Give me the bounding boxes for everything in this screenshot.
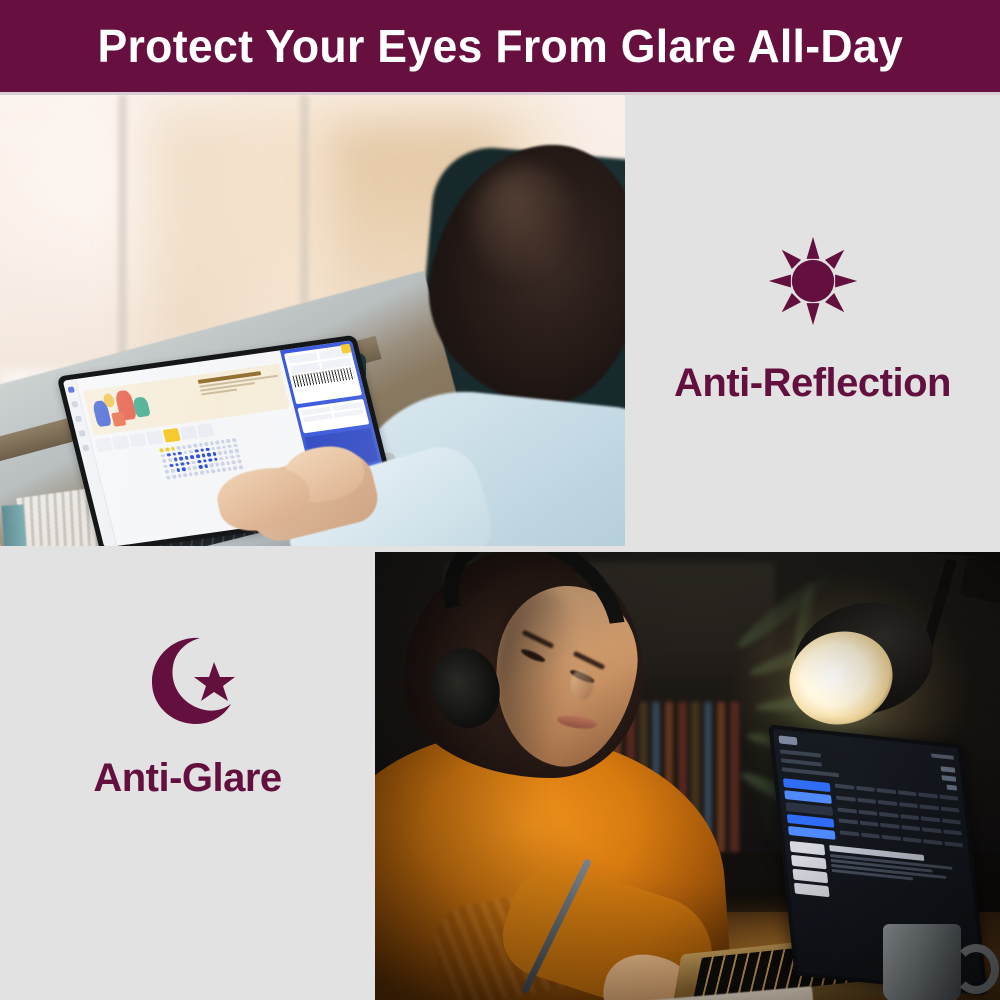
showtime-chip — [112, 435, 130, 450]
sidebar-icon-settings — [82, 445, 89, 452]
hero-text-block — [193, 364, 291, 421]
sidebar-icon-tickets — [75, 415, 82, 422]
moon-star-icon — [138, 632, 238, 726]
dashboard-list — [790, 841, 970, 912]
showtime-chip — [180, 426, 198, 441]
sun-icon — [767, 235, 859, 327]
showtime-chip-selected — [163, 428, 181, 443]
hair-highlight — [470, 165, 580, 285]
feature-anti-reflection: Anti-Reflection — [625, 95, 1000, 546]
showtime-chip — [129, 433, 147, 448]
dashboard-chart-area — [783, 778, 964, 853]
sidebar-icon-home — [67, 386, 74, 393]
showtime-chip — [95, 437, 113, 452]
daylight-photo — [0, 95, 625, 546]
header-banner: Protect Your Eyes From Glare All-Day — [0, 0, 1000, 92]
coffee-mug — [883, 924, 961, 1000]
coffee-mug-handle — [953, 944, 999, 994]
night-photo — [375, 552, 1000, 1000]
ticket-card — [284, 345, 362, 405]
product-feature-image: Protect Your Eyes From Glare All-Day — [0, 0, 1000, 1000]
feature-label-anti-glare: Anti-Glare — [93, 756, 281, 801]
showtime-chip — [197, 423, 215, 438]
list-thumbnails — [790, 841, 830, 897]
payment-summary-card — [297, 399, 369, 433]
page-title: Protect Your Eyes From Glare All-Day — [97, 19, 903, 73]
feature-anti-glare: Anti-Glare — [0, 552, 375, 1000]
calendar-grid — [835, 784, 964, 854]
bar-chart — [783, 778, 836, 840]
sidebar-icon-movies — [71, 401, 78, 408]
showtime-chip — [146, 430, 164, 445]
feature-label-anti-reflection: Anti-Reflection — [674, 361, 951, 406]
sidebar-icon-profile — [78, 430, 85, 437]
panel-corner-badge — [340, 344, 351, 354]
app-logo-icon — [778, 735, 797, 745]
dashboard-header-label — [931, 753, 954, 759]
list-text-block — [829, 845, 970, 912]
